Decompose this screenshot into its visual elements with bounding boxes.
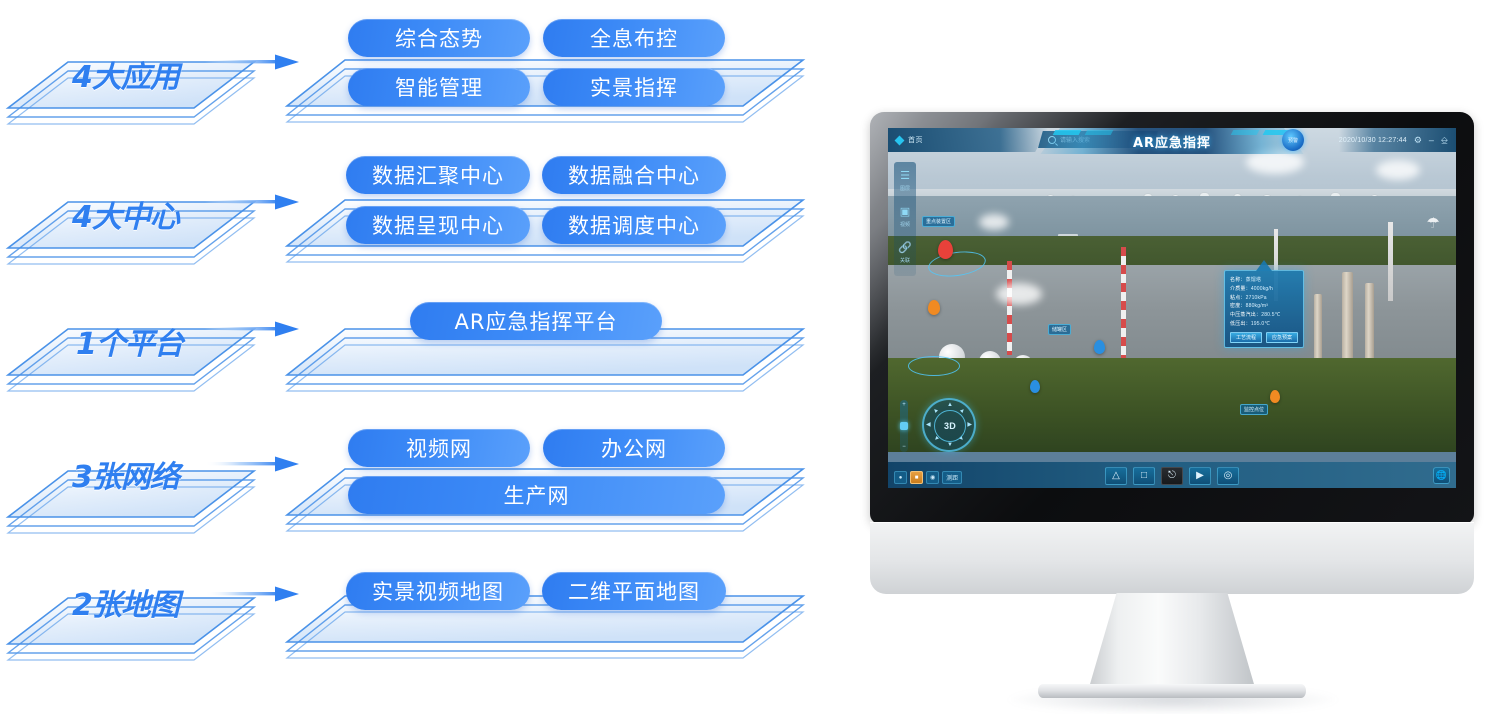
- popup-value: 880kg/m³: [1246, 303, 1268, 309]
- navigation-compass[interactable]: ▲ ▼ ◀ ▶ ▲ ▲ ▼ ▼ 3D: [922, 398, 976, 452]
- marker-label[interactable]: 重点装置区: [922, 216, 955, 227]
- play-icon[interactable]: ◎: [1217, 467, 1239, 485]
- title-accent-bar: [1231, 130, 1260, 135]
- scene-smokestack: [1388, 222, 1393, 301]
- user-icon[interactable]: ☂: [1427, 214, 1440, 232]
- app-title-banner: AR应急指挥: [1032, 128, 1312, 154]
- popup-row: 介质量：4000kg/h: [1230, 285, 1298, 294]
- pill-button[interactable]: 实景指挥: [543, 68, 725, 106]
- popup-value: 195.0℃: [1251, 321, 1270, 327]
- popup-row: 粘点：2710kPa: [1230, 294, 1298, 303]
- ruler-label: 测距: [946, 473, 958, 482]
- infographic-root: 4大应用: [0, 0, 1486, 684]
- pill-button[interactable]: 实景视频地图: [346, 572, 530, 610]
- popup-key: 低压出: [1230, 321, 1246, 327]
- app-title: AR应急指挥: [1133, 132, 1211, 151]
- map-marker-pin[interactable]: [928, 300, 940, 315]
- minimize-icon[interactable]: –: [1429, 136, 1434, 145]
- scene-smokestack: [1007, 261, 1012, 355]
- row-label: 2张地图: [72, 580, 179, 624]
- bottombar-left-chips: ● ■ ◉ 测距: [894, 471, 962, 484]
- diagram-row-networks: 3张网络 视频网 办公网 生产网: [0, 412, 830, 552]
- diagram-row-maps: 2张地图 实景视频地图 二维平面地图: [0, 548, 830, 684]
- diagram-row-platform: 1个平台 AR应急指挥平台: [0, 285, 830, 415]
- pin-icon: [1270, 390, 1280, 403]
- popup-row: 名称：蒸馏塔: [1230, 276, 1298, 285]
- zoom-slider-knob[interactable]: [900, 422, 908, 430]
- pin-icon: [928, 300, 940, 315]
- scene-column: [1314, 294, 1322, 366]
- pin-icon: [1030, 380, 1040, 393]
- monitor-bezel: 首页 请输入搜索 AR应急指挥 预警: [870, 112, 1474, 524]
- compass-down-arrow[interactable]: ▼: [947, 442, 953, 448]
- diamond-icon: [895, 135, 905, 145]
- grid-icon[interactable]: ■: [910, 471, 923, 484]
- scene-column: [1342, 272, 1353, 366]
- scene-smokestack: [1121, 247, 1126, 362]
- ruler-icon[interactable]: 测距: [942, 471, 962, 484]
- title-accent-bar: [1053, 130, 1082, 135]
- topbar-right-group: 2020/10/30 12:27:44 ⚙ – ⎒: [1339, 128, 1456, 152]
- row-label: 4大应用: [72, 52, 179, 96]
- bottombar-right-group: 🌐: [1433, 467, 1450, 484]
- pill-button[interactable]: 数据呈现中心: [346, 206, 530, 244]
- pill-button[interactable]: 数据汇聚中心: [346, 156, 530, 194]
- ar-application-screen: 首页 请输入搜索 AR应急指挥 预警: [888, 128, 1456, 488]
- diagram-row-centers: 4大中心 数据汇聚中心 数据融合中心 数据呈现中心 数据调度中心: [0, 140, 830, 280]
- globe-icon[interactable]: 🌐: [1433, 467, 1450, 484]
- timestamp: 2020/10/30 12:27:44: [1339, 137, 1407, 144]
- pill-button[interactable]: 办公网: [543, 429, 725, 467]
- popup-plan-button[interactable]: 应急预案: [1266, 332, 1298, 343]
- scene-smoke: [996, 283, 1042, 305]
- cursor-icon[interactable]: ⎋: [1161, 467, 1183, 485]
- map-marker-pin[interactable]: [1030, 380, 1040, 393]
- popup-key: 密度: [1230, 303, 1240, 309]
- diagram-row-applications: 4大应用: [0, 0, 830, 140]
- camera-icon[interactable]: ▶: [1189, 467, 1211, 485]
- rail-item-label: 视频: [900, 221, 910, 228]
- rail-item-label: 图层: [900, 185, 910, 192]
- popup-value: 4000kg/h: [1251, 286, 1273, 292]
- architecture-diagram: 4大应用: [0, 0, 830, 684]
- popup-key: 中压蒸汽出: [1230, 312, 1256, 318]
- row-label: 1个平台: [76, 319, 183, 363]
- asset-info-popup: 名称：蒸馏塔 介质量：4000kg/h 粘点：2710kPa 密度：880kg/…: [1224, 270, 1304, 348]
- eye-icon[interactable]: ◉: [926, 471, 939, 484]
- zoom-in-label: +: [902, 402, 906, 408]
- popup-row: 中压蒸汽出：280.5℃: [1230, 311, 1298, 320]
- row-label: 4大中心: [72, 192, 179, 236]
- popup-row: 低压出：195.0℃: [1230, 320, 1298, 329]
- rail-item-label: 关联: [900, 257, 910, 264]
- pill-button[interactable]: AR应急指挥平台: [410, 302, 662, 340]
- pill-button[interactable]: 生产网: [348, 476, 725, 514]
- bottombar-center-buttons: △ □ ⎋ ▶ ◎: [1105, 467, 1239, 485]
- layers-icon: ☰: [899, 170, 912, 183]
- map-marker-pin[interactable]: [938, 240, 953, 259]
- pill-button[interactable]: 二维平面地图: [542, 572, 726, 610]
- gear-icon[interactable]: ⚙: [1414, 136, 1422, 145]
- rail-item-layers[interactable]: ☰ 图层: [899, 170, 912, 192]
- title-accent-bar: [1085, 130, 1114, 135]
- monitor-chin: [870, 522, 1474, 594]
- zoom-out-label: −: [902, 444, 906, 450]
- rail-item-video[interactable]: ▣ 视频: [899, 206, 912, 228]
- popup-key: 名称: [1230, 277, 1240, 283]
- compass-mode-label: 3D: [944, 421, 956, 431]
- popup-value: 蒸馏塔: [1246, 277, 1262, 283]
- desktop-monitor: 首页 请输入搜索 AR应急指挥 预警: [858, 112, 1486, 672]
- popup-process-button[interactable]: 工艺流程: [1230, 332, 1262, 343]
- popup-value: 2710kPa: [1246, 295, 1267, 301]
- compass-right-arrow[interactable]: ▶: [967, 422, 972, 428]
- popup-row: 密度：880kg/m³: [1230, 302, 1298, 311]
- target-icon[interactable]: △: [1105, 467, 1127, 485]
- compass-center-button[interactable]: 3D: [934, 410, 966, 442]
- pin-icon: [1094, 340, 1105, 354]
- square-icon[interactable]: □: [1133, 467, 1155, 485]
- map-marker-pin[interactable]: [1094, 340, 1105, 354]
- map-marker-pin[interactable]: [1270, 390, 1280, 403]
- scene-column: [1365, 283, 1374, 366]
- popup-actions: 工艺流程 应急预案: [1230, 332, 1298, 343]
- pin-icon[interactable]: ●: [894, 471, 907, 484]
- rail-item-link[interactable]: 🔗 关联: [899, 242, 912, 264]
- home-label: 首页: [908, 135, 923, 145]
- pill-button[interactable]: 数据融合中心: [542, 156, 726, 194]
- row-label: 3张网络: [72, 452, 179, 496]
- zoom-slider[interactable]: + −: [900, 400, 908, 452]
- compass-left-arrow[interactable]: ◀: [926, 422, 931, 428]
- pill-button[interactable]: 视频网: [348, 429, 530, 467]
- marker-label[interactable]: 监控点位: [1240, 404, 1268, 415]
- pill-button[interactable]: 智能管理: [348, 68, 530, 106]
- app-bottombar: ● ■ ◉ 测距 △ □ ⎋ ▶ ◎ �: [888, 462, 1456, 488]
- topbar-home[interactable]: 首页: [888, 128, 1048, 152]
- pill-button[interactable]: 全息布控: [543, 19, 725, 57]
- video-icon: ▣: [899, 206, 912, 219]
- close-icon[interactable]: ⎒: [1441, 136, 1448, 145]
- marker-ring: [908, 356, 960, 376]
- marker-label[interactable]: 储罐区: [1048, 324, 1071, 335]
- pill-button[interactable]: 综合态势: [348, 19, 530, 57]
- app-topbar: 首页 请输入搜索 AR应急指挥 预警: [888, 128, 1456, 152]
- pin-icon: [938, 240, 953, 259]
- pill-button[interactable]: 数据调度中心: [542, 206, 726, 244]
- monitor-stand-base: [1038, 684, 1306, 698]
- alert-orb-label: 预警: [1288, 137, 1298, 144]
- monitor-stand-neck: [1088, 593, 1256, 691]
- popup-key: 介质量: [1230, 286, 1246, 292]
- left-tool-rail: ☰ 图层 ▣ 视频 🔗 关联: [894, 162, 916, 276]
- compass-up-arrow[interactable]: ▲: [947, 402, 953, 408]
- link-icon: 🔗: [899, 242, 912, 255]
- alert-orb-button[interactable]: 预警: [1282, 129, 1304, 151]
- popup-value: 280.5℃: [1261, 312, 1280, 318]
- popup-key: 粘点: [1230, 295, 1240, 301]
